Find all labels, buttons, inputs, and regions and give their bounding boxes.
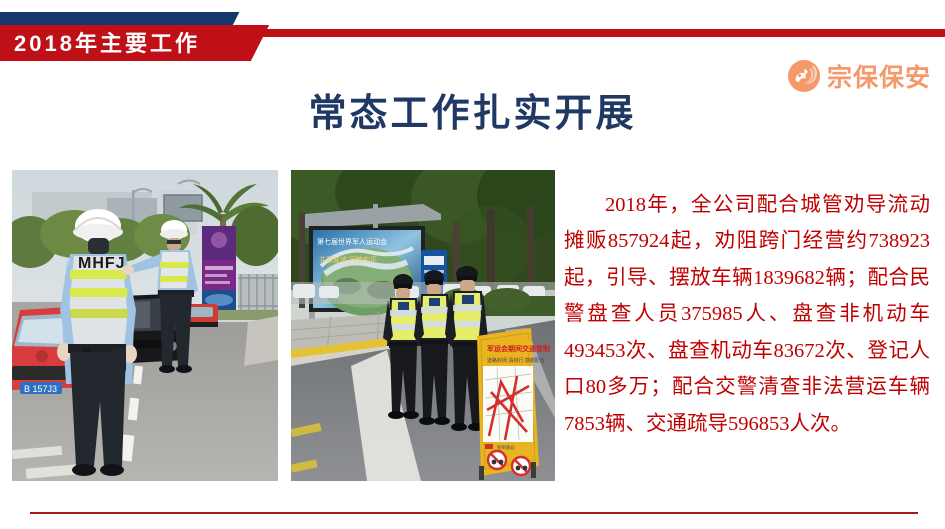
section-label: 2018年主要工作 (14, 27, 244, 60)
svg-text:道路封闭 请绕行 感谢配合: 道路封闭 请绕行 感谢配合 (487, 357, 545, 364)
photo-security-guards: 第七届世界军人运动会 共享友谊 同筑和平 (291, 170, 555, 481)
svg-text:军运会期间交通管制: 军运会期间交通管制 (487, 344, 550, 353)
svg-text:管制路段: 管制路段 (497, 444, 515, 451)
photo-traffic-officers: B 157J3 (12, 170, 278, 481)
body-paragraph: 2018年，全公司配合城管劝导流动摊贩857924起，劝阻跨门经营约738923… (564, 187, 930, 443)
svg-text:共享友谊 同筑和平: 共享友谊 同筑和平 (319, 255, 377, 264)
svg-text:MHFJ: MHFJ (78, 255, 126, 272)
svg-text:B 157J3: B 157J3 (24, 384, 57, 394)
banner-rule (240, 29, 945, 37)
svg-text:第七届世界军人运动会: 第七届世界军人运动会 (317, 237, 387, 246)
page-title: 常态工作扎实开展 (0, 82, 945, 137)
footer-rule (30, 512, 918, 514)
